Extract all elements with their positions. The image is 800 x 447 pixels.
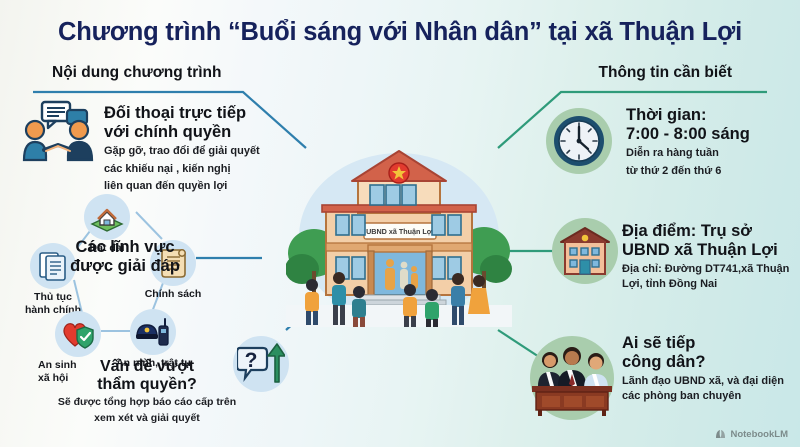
who-heading-line2: công dân? xyxy=(622,353,790,372)
time-desc-line2: từ thứ 2 đến thứ 6 xyxy=(626,164,750,179)
node-label-chinh-sach: Chính sách xyxy=(134,288,212,301)
who-text-block: Ai sẽ tiếp công dân? Lãnh đạo UBND xã, v… xyxy=(622,334,790,403)
fields-caption: Các lĩnh vực được giải đáp xyxy=(55,238,195,276)
officials-at-podium-icon xyxy=(530,336,614,420)
time-desc-line1: Diễn ra hàng tuần xyxy=(626,146,750,161)
land-house-icon xyxy=(84,194,130,240)
office-building-icon xyxy=(552,218,618,284)
who-heading-line1: Ai sẽ tiếp xyxy=(622,334,790,353)
heart-shield-icon xyxy=(55,311,101,357)
time-heading-line2: 7:00 - 8:00 sáng xyxy=(626,125,750,144)
place-address: Địa chỉ: Đường DT741,xã Thuận Lợi, tỉnh … xyxy=(622,262,790,291)
time-text-block: Thời gian: 7:00 - 8:00 sáng Diễn ra hàng… xyxy=(626,106,750,178)
escalation-text-block: Vấn đề vượt thẩm quyền? Sẽ được tổng hợp… xyxy=(52,358,242,426)
infographic-canvas: Chương trình “Buổi sáng với Nhân dân” tạ… xyxy=(0,0,800,447)
who-desc: Lãnh đạo UBND xã, và đại diện các phòng … xyxy=(622,374,790,403)
left-column-heading: Nội dung chương trình xyxy=(52,64,221,82)
place-heading-line2: UBND xã Thuận Lợi xyxy=(622,241,790,260)
time-heading-line1: Thời gian: xyxy=(626,106,750,125)
notebooklm-watermark: NotebookLM xyxy=(715,429,788,440)
dialogue-heading-line2: với chính quyền xyxy=(104,123,260,142)
watermark-label: NotebookLM xyxy=(730,429,788,440)
escalation-heading-line1: Vấn đề vượt xyxy=(52,358,242,376)
police-cap-radio-icon xyxy=(130,309,176,355)
dialogue-desc-line1: Gặp gỡ, trao đổi để giải quyết xyxy=(104,144,260,159)
government-office-building-illustration: UBND xã Thuận Lợi xyxy=(286,145,512,327)
page-title: Chương trình “Buổi sáng với Nhân dân” tạ… xyxy=(0,18,800,47)
dialogue-text-block: Đối thoại trực tiếp với chính quyền Gặp … xyxy=(104,104,260,194)
wall-clock-icon xyxy=(546,108,612,174)
right-column-heading: Thông tin cần biết xyxy=(599,64,732,82)
notebooklm-icon xyxy=(715,429,726,440)
dialogue-desc-line2: các khiếu nại , kiến nghị xyxy=(104,162,260,177)
escalation-desc-line2: xem xét và giải quyết xyxy=(52,412,242,426)
handshake-speech-bubbles-icon xyxy=(22,100,94,162)
place-text-block: Địa điểm: Trụ sở UBND xã Thuận Lợi Địa c… xyxy=(622,222,790,291)
svg-text:UBND xã Thuận Lợi: UBND xã Thuận Lợi xyxy=(366,227,434,236)
escalation-desc-line1: Sẽ được tổng hợp báo cáo cấp trên xyxy=(52,396,242,410)
dialogue-heading-line1: Đối thoại trực tiếp xyxy=(104,104,260,123)
escalation-heading-line2: thẩm quyền? xyxy=(52,376,242,394)
place-heading-line1: Địa điểm: Trụ sở xyxy=(622,222,790,241)
ring-link-2 xyxy=(136,212,162,239)
svg-text:?: ? xyxy=(245,349,258,372)
dialogue-desc-line3: liên quan đến quyền lợi xyxy=(104,179,260,194)
